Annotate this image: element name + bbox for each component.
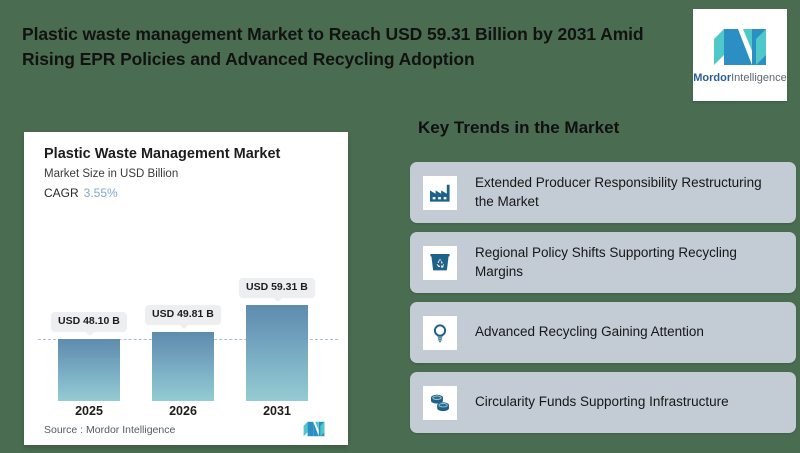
trend-card-advanced-recycling[interactable]: Advanced Recycling Gaining Attention bbox=[410, 302, 796, 363]
bar-2026[interactable] bbox=[152, 332, 214, 401]
coins-icon-glyph bbox=[429, 392, 451, 414]
recycling-bin-icon bbox=[423, 246, 457, 280]
trend-card-epr[interactable]: Extended Producer Responsibility Restruc… bbox=[410, 162, 796, 223]
bar-2031[interactable] bbox=[246, 305, 308, 401]
factory-icon-glyph bbox=[429, 182, 451, 204]
bar-label-2031: USD 59.31 B bbox=[239, 278, 315, 297]
mordor-intelligence-logo-icon bbox=[712, 27, 768, 67]
x-tick-2031: 2031 bbox=[246, 404, 308, 418]
factory-icon bbox=[423, 176, 457, 210]
source-logo-icon bbox=[300, 421, 328, 437]
trend-label-circularity-funds: Circularity Funds Supporting Infrastruct… bbox=[475, 393, 729, 411]
x-tick-2026: 2026 bbox=[152, 404, 214, 418]
lightbulb-icon-glyph bbox=[429, 322, 451, 344]
trend-label-regional-policy: Regional Policy Shifts Supporting Recycl… bbox=[475, 244, 782, 280]
brand-logo-text: MordorIntelligence bbox=[693, 72, 787, 84]
recycling-bin-icon-glyph bbox=[429, 252, 451, 274]
cagr-value: 3.55% bbox=[84, 186, 118, 200]
x-tick-2025: 2025 bbox=[58, 404, 120, 418]
brand-name-bold: Mordor bbox=[693, 72, 731, 84]
brand-logo: MordorIntelligence bbox=[693, 9, 787, 101]
market-chart-card: Plastic Waste Management Market Market S… bbox=[24, 132, 348, 445]
trend-label-epr: Extended Producer Responsibility Restruc… bbox=[475, 174, 782, 210]
chart-cagr: CAGR3.55% bbox=[44, 186, 118, 200]
trends-list: Extended Producer Responsibility Restruc… bbox=[410, 162, 796, 442]
cagr-label: CAGR bbox=[44, 186, 79, 200]
chart-source: Source : Mordor Intelligence bbox=[44, 424, 175, 436]
lightbulb-icon bbox=[423, 316, 457, 350]
coins-icon bbox=[423, 386, 457, 420]
bar-label-2026: USD 49.81 B bbox=[145, 305, 221, 324]
chart-title: Plastic Waste Management Market bbox=[44, 146, 280, 162]
bar-2025[interactable] bbox=[58, 339, 120, 401]
brand-name-light: Intelligence bbox=[731, 72, 787, 84]
page-title: Plastic waste management Market to Reach… bbox=[22, 22, 662, 72]
chart-subtitle: Market Size in USD Billion bbox=[44, 168, 178, 180]
bar-label-2025: USD 48.10 B bbox=[51, 312, 127, 331]
trend-card-regional-policy[interactable]: Regional Policy Shifts Supporting Recycl… bbox=[410, 232, 796, 293]
trends-heading: Key Trends in the Market bbox=[418, 118, 619, 138]
bar-chart-plot: USD 48.10 B USD 49.81 B USD 59.31 B bbox=[24, 206, 348, 401]
trend-card-circularity-funds[interactable]: Circularity Funds Supporting Infrastruct… bbox=[410, 372, 796, 433]
trend-label-advanced-recycling: Advanced Recycling Gaining Attention bbox=[475, 323, 704, 341]
